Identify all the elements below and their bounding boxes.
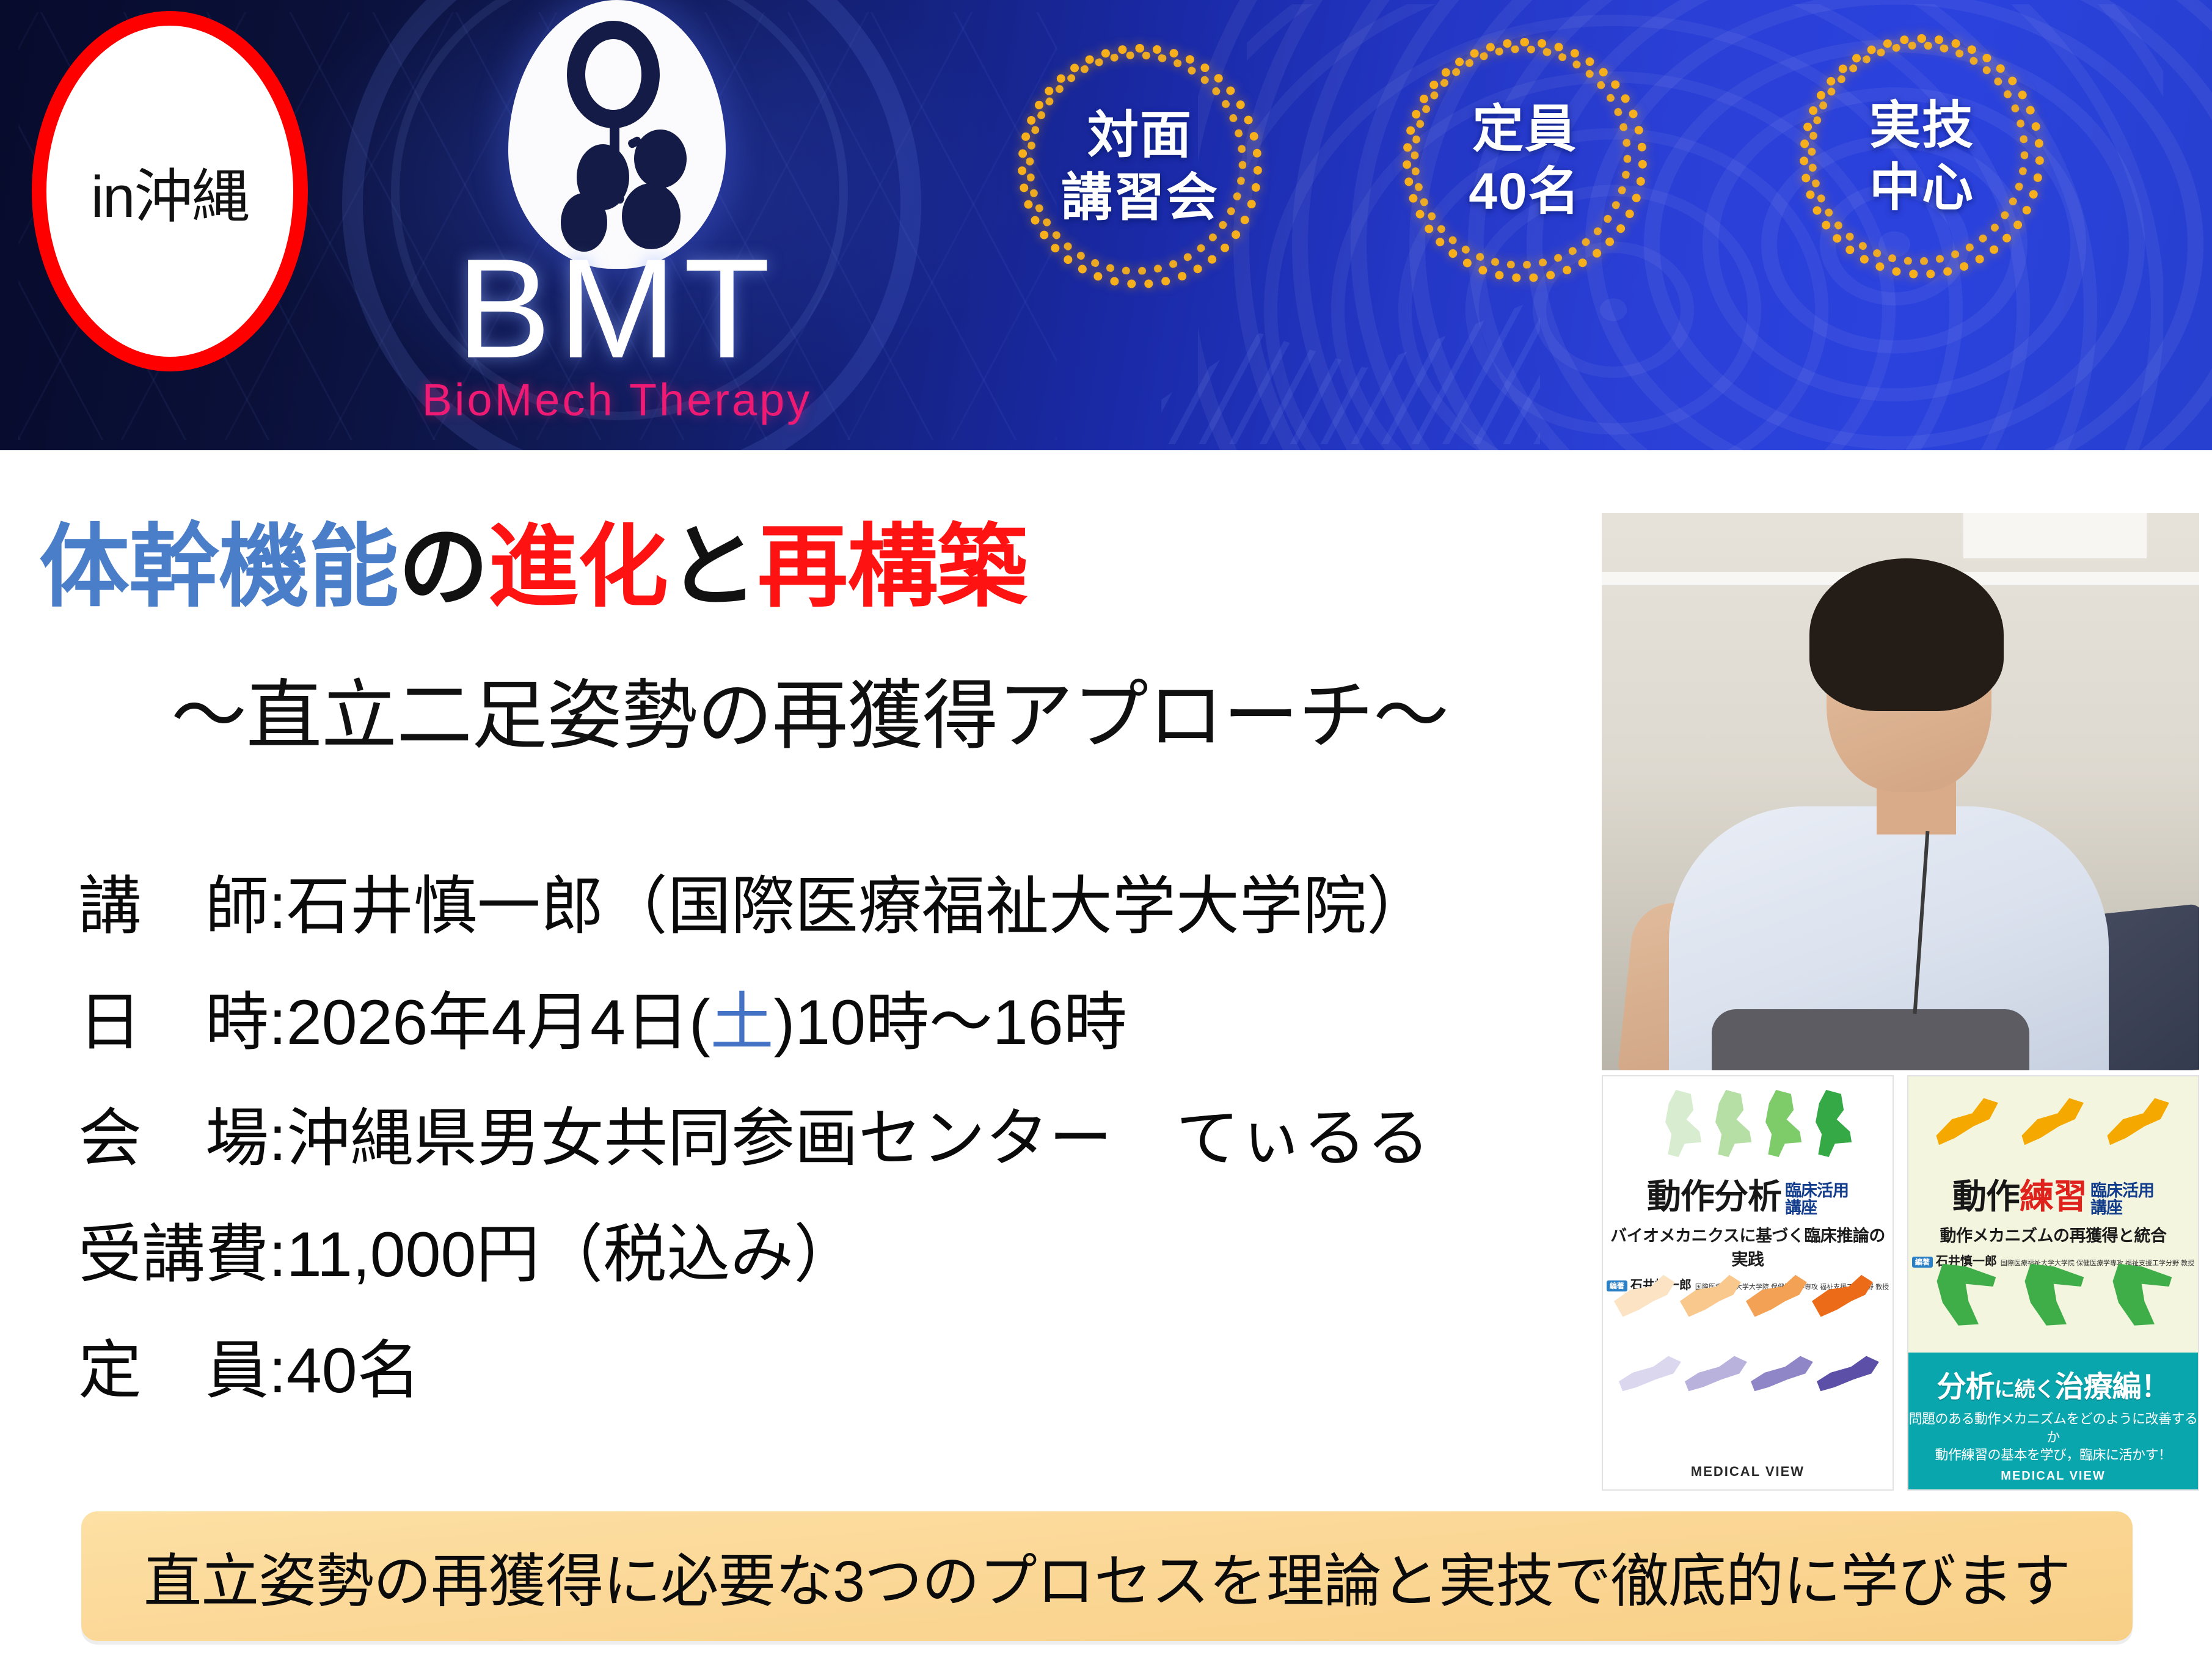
feature-badge-taimen: 対面 講習会 [1018,44,1262,288]
book2-band-body-line1: 問題のある動作メカニズムをどのように改善するか [1908,1410,2198,1446]
book2-teal-band: 分析に続く治療編！ 問題のある動作メカニズムをどのように改善するか 動作練習の基… [1908,1353,2198,1489]
detail-value-weekday: 土 [710,987,774,1058]
book1-badge-line1: 臨床活用 [1785,1182,1849,1199]
page-title-part-no: の [398,517,488,618]
page-title-part-to: と [668,517,757,618]
location-badge: in沖縄 [32,11,308,371]
seminar-details: 講 師: 石井慎一郎（国際医療福祉大学大学院） 日 時: 2026年4月4日(土… [78,854,1575,1434]
bmt-logo: BMT BioMech Therapy [373,0,861,448]
highlight-banner-text: 直立姿勢の再獲得に必要な3つのプロセスを理論と実技で徹底的に学びます [144,1535,2070,1618]
detail-value-date-post: )10時〜16時 [774,987,1127,1058]
book2-publisher: MEDICAL VIEW [1908,1469,2198,1483]
background-arcs-decoration [1198,0,2212,450]
detail-row-lecturer: 講 師: 石井慎一郎（国際医療福祉大学大学院） [78,854,1575,970]
feature-badge-teiin: 定員 40名 [1403,38,1647,282]
detail-value-fee: 11,000円（税込み） [287,1202,857,1295]
bmt-molecule-icon [508,0,726,269]
book2-badge-line2: 講座 [2090,1199,2154,1216]
book2-band-headline: 分析に続く治療編！ [1908,1362,2198,1405]
detail-label-capacity: 定 員: [78,1318,287,1411]
header-banner: in沖縄 BMT BioMech Therapy 対面 講習会 定員 40名 [0,0,2212,450]
book1-title: 動作分析 臨床活用 講座 [1603,1169,1893,1219]
book1-publisher: MEDICAL VIEW [1603,1464,1893,1480]
book2-band-body-line2: 動作練習の基本を学び，臨床に活かす！ [1908,1446,2198,1464]
bmt-tagline: BioMech Therapy [373,374,861,426]
detail-value-venue: 沖縄県男女共同参画センター てぃるる [287,1086,1430,1178]
lecturer-photo [1602,513,2199,1070]
book1-badge-line2: 講座 [1785,1199,1849,1216]
book2-badge-line1: 臨床活用 [2090,1182,2154,1199]
detail-value-lecturer: 石井慎一郎（国際医療福祉大学大学院） [287,854,1430,946]
detail-row-capacity: 定 員: 40名 [78,1318,1575,1434]
page-title-part-shinka: 進化 [488,517,668,618]
circuit-stripes-decoration [1161,285,1540,444]
book-covers: 動作分析 臨床活用 講座 バイオメカニクスに基づく臨床推論の実践 編著石井慎一郎… [1602,1075,2199,1491]
detail-label-datetime: 日 時: [78,970,287,1062]
book-cover-dousa-bunseki: 動作分析 臨床活用 講座 バイオメカニクスに基づく臨床推論の実践 編著石井慎一郎… [1602,1075,1894,1491]
book2-title: 動作練習 臨床活用 講座 [1908,1169,2198,1219]
detail-row-fee: 受講費: 11,000円（税込み） [78,1202,1575,1318]
book1-green-silhouettes [1659,1090,1853,1157]
bmt-acronym: BMT [373,239,861,378]
detail-row-venue: 会 場: 沖縄県男女共同参画センター てぃるる [78,1086,1575,1202]
feature-badge-taimen-line1: 対面 [1061,104,1219,166]
feature-badge-teiin-line2: 40名 [1469,160,1580,222]
book2-subtitle: 動作メカニズムの再獲得と統合 [1908,1222,2198,1246]
book2-green-silhouettes [1927,1260,2175,1327]
detail-value-capacity: 40名 [287,1318,421,1411]
detail-value-date-pre: 2026年4月4日( [287,987,710,1058]
page-subtitle: 〜直立二足姿勢の再獲得アプローチ〜 [171,678,1448,754]
feature-badge-jitsugi: 実技 中心 [1800,34,2044,279]
detail-label-lecturer: 講 師: [78,854,287,946]
detail-label-fee: 受講費: [78,1202,287,1295]
detail-label-venue: 会 場: [78,1086,287,1178]
feature-badge-teiin-line1: 定員 [1469,98,1580,160]
book-cover-dousa-renshu: 動作練習 臨床活用 講座 動作メカニズムの再獲得と統合 編著石井慎一郎国際医療福… [1907,1075,2199,1491]
book1-orange-silhouettes [1614,1271,1875,1323]
page-title-part-taikan: 体幹機能 [39,517,398,618]
detail-row-datetime: 日 時: 2026年4月4日(土)10時〜16時 [78,970,1575,1086]
location-badge-label: in沖縄 [91,149,249,234]
page-title: 体幹機能の進化と再構築 [39,522,1027,613]
book1-subtitle: バイオメカニクスに基づく臨床推論の実践 [1603,1222,1893,1270]
book2-orange-silhouettes [1930,1090,2174,1149]
page-title-part-saikouchiku: 再構築 [757,517,1027,618]
feature-badge-taimen-line2: 講習会 [1061,166,1219,228]
feature-badge-jitsugi-line2: 中心 [1869,156,1974,219]
highlight-banner: 直立姿勢の再獲得に必要な3つのプロセスを理論と実技で徹底的に学びます [81,1511,2133,1641]
book1-purple-silhouettes [1619,1345,1880,1394]
feature-badge-jitsugi-line1: 実技 [1869,94,1974,156]
